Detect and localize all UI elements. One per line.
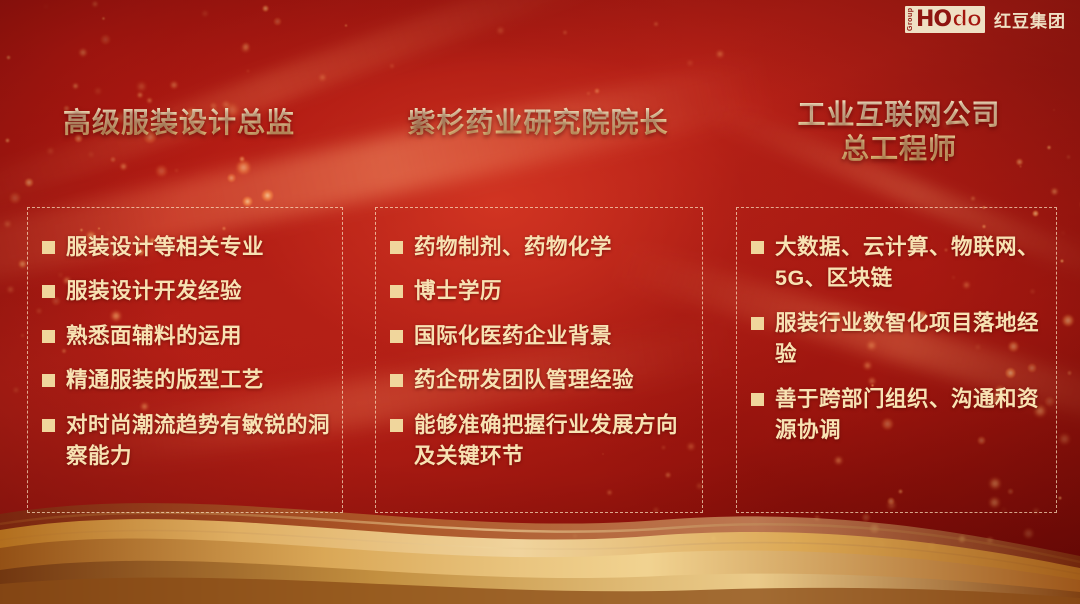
role-title-3: 工业互联网公司 总工程师 xyxy=(718,98,1080,166)
requirement-text: 对时尚潮流趋势有敏锐的洞察能力 xyxy=(66,410,330,473)
requirement-text: 熟悉面辅料的运用 xyxy=(66,321,330,352)
list-item: 服装行业数智化项目落地经验 xyxy=(751,308,1044,371)
bullet-square-icon xyxy=(42,419,55,432)
bullet-square-icon xyxy=(390,374,403,387)
list-item: 服装设计开发经验 xyxy=(42,276,330,307)
list-item: 对时尚潮流趋势有敏锐的洞察能力 xyxy=(42,410,330,473)
logo-group-text: Group xyxy=(905,6,916,33)
role-column-1: 高级服装设计总监 服装设计等相关专业 服装设计开发经验 熟悉面辅料的运用 xyxy=(0,0,358,604)
requirement-text: 博士学历 xyxy=(414,276,690,307)
requirement-text: 服装设计等相关专业 xyxy=(66,232,330,263)
requirement-text: 服装行业数智化项目落地经验 xyxy=(775,308,1044,371)
requirement-text: 大数据、云计算、物联网、5G、区块链 xyxy=(775,232,1044,295)
list-item: 药物制剂、药物化学 xyxy=(390,232,690,263)
list-item: 国际化医药企业背景 xyxy=(390,321,690,352)
list-item: 博士学历 xyxy=(390,276,690,307)
bullet-square-icon xyxy=(390,285,403,298)
list-item: 善于跨部门组织、沟通和资源协调 xyxy=(751,384,1044,447)
logo-ho-text: HO xyxy=(916,6,951,33)
requirements-box-1: 服装设计等相关专业 服装设计开发经验 熟悉面辅料的运用 精通服装的版型工艺 xyxy=(27,207,343,513)
list-item: 熟悉面辅料的运用 xyxy=(42,321,330,352)
role-title-2: 紫杉药业研究院院长 xyxy=(358,106,718,140)
requirement-text: 能够准确把握行业发展方向及关键环节 xyxy=(414,410,690,473)
list-item: 精通服装的版型工艺 xyxy=(42,365,330,396)
bullet-square-icon xyxy=(390,241,403,254)
logo-chinese-name: 红豆集团 xyxy=(994,7,1066,32)
role-columns: 高级服装设计总监 服装设计等相关专业 服装设计开发经验 熟悉面辅料的运用 xyxy=(0,0,1080,604)
bullet-square-icon xyxy=(42,374,55,387)
role-column-2: 紫杉药业研究院院长 药物制剂、药物化学 博士学历 国际化医药企业背景 xyxy=(358,0,718,604)
logo-do-text: do xyxy=(952,6,981,33)
list-item: 服装设计等相关专业 xyxy=(42,232,330,263)
bullet-square-icon xyxy=(751,241,764,254)
bullet-square-icon xyxy=(42,285,55,298)
requirement-text: 服装设计开发经验 xyxy=(66,276,330,307)
requirement-text: 药企研发团队管理经验 xyxy=(414,365,690,396)
requirement-text: 精通服装的版型工艺 xyxy=(66,365,330,396)
role-column-3: 工业互联网公司 总工程师 大数据、云计算、物联网、5G、区块链 服装行业数智化项… xyxy=(718,0,1080,604)
brand-logo: Group HO do 红豆集团 xyxy=(905,6,1066,33)
requirements-list-2: 药物制剂、药物化学 博士学历 国际化医药企业背景 药企研发团队管理经验 xyxy=(390,232,690,472)
bullet-square-icon xyxy=(42,241,55,254)
requirements-list-3: 大数据、云计算、物联网、5G、区块链 服装行业数智化项目落地经验 善于跨部门组织… xyxy=(751,232,1044,446)
requirements-box-3: 大数据、云计算、物联网、5G、区块链 服装行业数智化项目落地经验 善于跨部门组织… xyxy=(736,207,1057,513)
requirement-text: 国际化医药企业背景 xyxy=(414,321,690,352)
requirement-text: 善于跨部门组织、沟通和资源协调 xyxy=(775,384,1044,447)
bullet-square-icon xyxy=(390,330,403,343)
requirements-list-1: 服装设计等相关专业 服装设计开发经验 熟悉面辅料的运用 精通服装的版型工艺 xyxy=(42,232,330,472)
bullet-square-icon xyxy=(751,393,764,406)
slide-canvas: Group HO do 红豆集团 高级服装设计总监 服装设计等相关专业 服装设计… xyxy=(0,0,1080,604)
hodo-logomark-icon: Group HO do xyxy=(905,6,985,33)
bullet-square-icon xyxy=(751,317,764,330)
requirement-text: 药物制剂、药物化学 xyxy=(414,232,690,263)
list-item: 能够准确把握行业发展方向及关键环节 xyxy=(390,410,690,473)
list-item: 药企研发团队管理经验 xyxy=(390,365,690,396)
bullet-square-icon xyxy=(42,330,55,343)
role-title-1: 高级服装设计总监 xyxy=(0,106,358,140)
list-item: 大数据、云计算、物联网、5G、区块链 xyxy=(751,232,1044,295)
bullet-square-icon xyxy=(390,419,403,432)
requirements-box-2: 药物制剂、药物化学 博士学历 国际化医药企业背景 药企研发团队管理经验 xyxy=(375,207,703,513)
